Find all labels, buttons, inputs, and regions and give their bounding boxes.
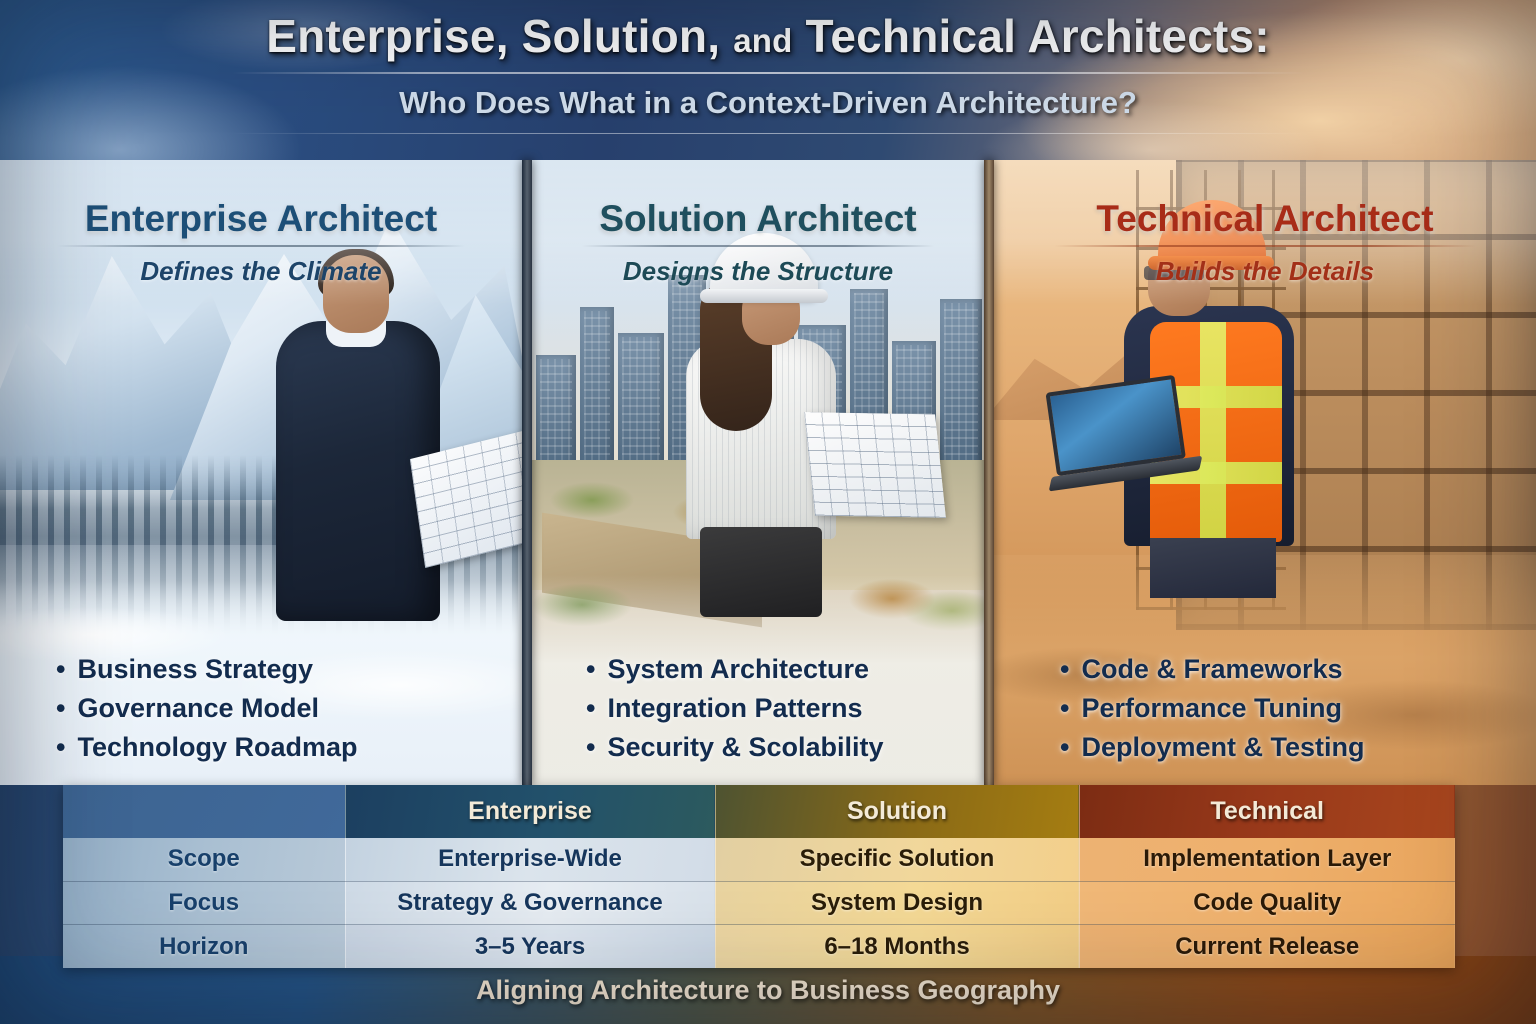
table-cell: 3–5 Years: [345, 925, 715, 968]
list-item: Governance Model: [56, 689, 496, 728]
blueprint-icon: [804, 412, 946, 518]
panel-title-underline: [1054, 245, 1477, 247]
panel-title: Enterprise Architect: [85, 198, 437, 240]
laptop-icon: [1045, 372, 1208, 496]
table-row: Scope Enterprise-Wide Specific Solution …: [63, 838, 1455, 881]
table-header-blank: [63, 785, 345, 838]
list-item: Code & Frameworks: [1060, 650, 1510, 689]
trousers: [700, 527, 822, 617]
building-icon: [536, 355, 576, 475]
panel-header-solution: Solution Architect Designs the Structure: [532, 160, 984, 305]
footer-tagline: Aligning Architecture to Business Geogra…: [476, 975, 1060, 1006]
title-part-and: and: [733, 22, 792, 59]
table-cell: System Design: [715, 881, 1079, 924]
panel-bullet-list-solution: System Architecture Integration Patterns…: [532, 650, 984, 767]
panel-title: Solution Architect: [599, 198, 916, 240]
list-item: Technology Roadmap: [56, 728, 496, 767]
panel-solution-architect: Solution Architect Designs the Structure…: [532, 160, 984, 785]
panel-subtitle: Designs the Structure: [623, 256, 893, 287]
table-header-row: Enterprise Solution Technical: [63, 785, 1455, 838]
trousers: [1150, 538, 1276, 598]
table-cell: Strategy & Governance: [345, 881, 715, 924]
comparison-table: Enterprise Solution Technical Scope Ente…: [63, 785, 1455, 968]
panel-technical-architect: Technical Architect Builds the Details C…: [994, 160, 1536, 785]
table-header-technical: Technical: [1079, 785, 1455, 838]
panel-header-enterprise: Enterprise Architect Defines the Climate: [0, 160, 522, 305]
businessman-figure: [268, 255, 448, 615]
list-item: Deployment & Testing: [1060, 728, 1510, 767]
table-row: Focus Strategy & Governance System Desig…: [63, 881, 1455, 924]
row-label: Focus: [63, 881, 345, 924]
table-header-enterprise: Enterprise: [345, 785, 715, 838]
panel-bullet-list-enterprise: Business Strategy Governance Model Techn…: [0, 650, 522, 767]
title-block: Enterprise, Solution, and Technical Arch…: [0, 12, 1536, 134]
panel-divider: [984, 160, 994, 785]
page-subtitle: Who Does What in a Context-Driven Archit…: [0, 85, 1536, 121]
table-header-solution: Solution: [715, 785, 1079, 838]
title-part-rest: Technical Architects:: [805, 10, 1269, 62]
panel-divider: [522, 160, 532, 785]
panel-header-technical: Technical Architect Builds the Details: [994, 160, 1536, 305]
list-item: System Architecture: [586, 650, 958, 689]
table-cell: Implementation Layer: [1079, 838, 1455, 881]
list-item: Business Strategy: [56, 650, 496, 689]
building-icon: [940, 299, 982, 475]
architect-panels: Enterprise Architect Defines the Climate…: [0, 160, 1536, 785]
table-row: Horizon 3–5 Years 6–18 Months Current Re…: [63, 925, 1455, 968]
title-part-main: Enterprise, Solution,: [266, 10, 720, 62]
panel-subtitle: Builds the Details: [1156, 256, 1374, 287]
title-divider: [232, 72, 1304, 74]
vest-stripe: [1200, 322, 1226, 542]
panel-title-underline: [57, 245, 464, 247]
list-item: Integration Patterns: [586, 689, 958, 728]
table-cell: Current Release: [1079, 925, 1455, 968]
panel-enterprise-architect: Enterprise Architect Defines the Climate…: [0, 160, 522, 785]
panel-subtitle: Defines the Climate: [140, 256, 381, 287]
building-icon: [580, 307, 614, 475]
list-item: Security & Scolability: [586, 728, 958, 767]
building-icon: [618, 333, 664, 475]
table-cell: Code Quality: [1079, 881, 1455, 924]
list-item: Performance Tuning: [1060, 689, 1510, 728]
row-label: Scope: [63, 838, 345, 881]
row-label: Horizon: [63, 925, 345, 968]
subtitle-divider: [232, 133, 1304, 134]
table-cell: 6–18 Months: [715, 925, 1079, 968]
panel-title: Technical Architect: [1096, 198, 1433, 240]
panel-bullet-list-technical: Code & Frameworks Performance Tuning Dep…: [994, 650, 1536, 767]
table-cell: Specific Solution: [715, 838, 1079, 881]
table-cell: Enterprise-Wide: [345, 838, 715, 881]
panel-title-underline: [582, 245, 935, 247]
page-title: Enterprise, Solution, and Technical Arch…: [0, 12, 1536, 62]
infographic-poster: Enterprise, Solution, and Technical Arch…: [0, 0, 1536, 1024]
